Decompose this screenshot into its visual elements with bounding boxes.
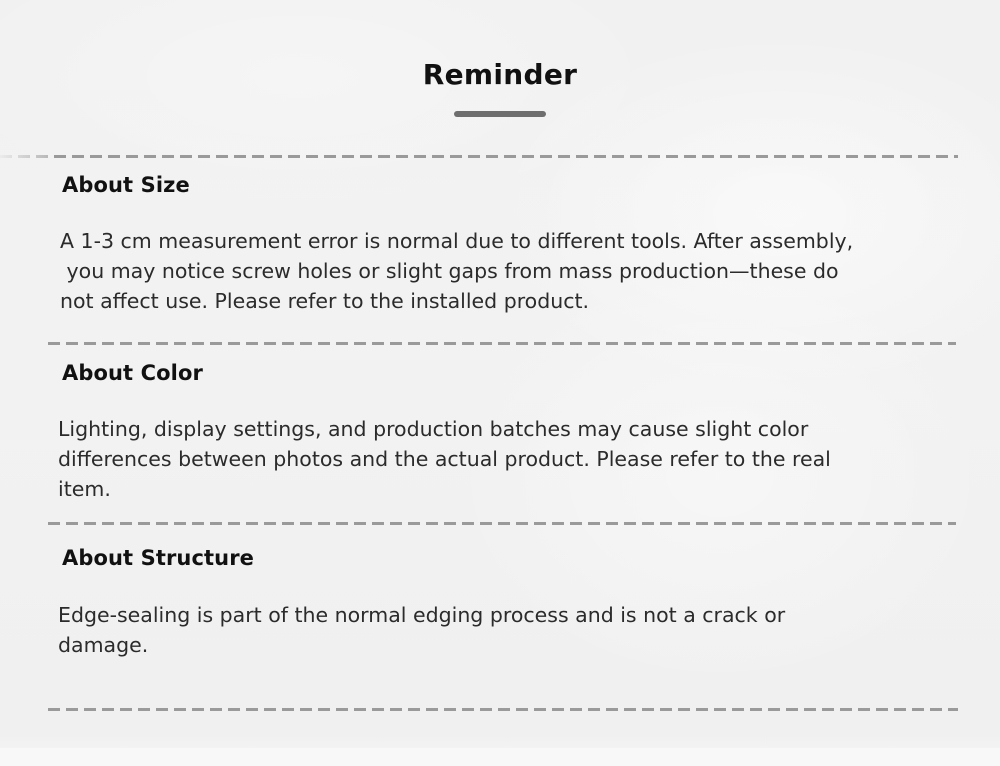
section-body-about-structure: Edge-sealing is part of the normal edgin… bbox=[0, 600, 1000, 660]
page-title: Reminder bbox=[0, 58, 1000, 92]
divider-top bbox=[0, 155, 958, 158]
title-block: Reminder bbox=[0, 58, 1000, 117]
divider-after-about-size bbox=[48, 342, 956, 345]
divider-bottom bbox=[48, 708, 958, 711]
section-about-color: About Color Lighting, display settings, … bbox=[0, 361, 1000, 504]
divider-after-about-color bbox=[48, 522, 956, 525]
section-heading-about-color: About Color bbox=[0, 361, 1000, 386]
section-body-about-size: A 1-3 cm measurement error is normal due… bbox=[0, 226, 1000, 316]
section-heading-about-size: About Size bbox=[0, 173, 1000, 198]
section-body-about-color: Lighting, display settings, and producti… bbox=[0, 414, 1000, 504]
section-about-structure: About Structure Edge-sealing is part of … bbox=[0, 546, 1000, 660]
section-about-size: About Size A 1-3 cm measurement error is… bbox=[0, 173, 1000, 316]
reminder-page: Reminder About Size A 1-3 cm measurement… bbox=[0, 0, 1000, 766]
reminder-content: Reminder About Size A 1-3 cm measurement… bbox=[0, 0, 1000, 766]
title-underline-rule bbox=[454, 111, 546, 117]
section-heading-about-structure: About Structure bbox=[0, 546, 1000, 571]
